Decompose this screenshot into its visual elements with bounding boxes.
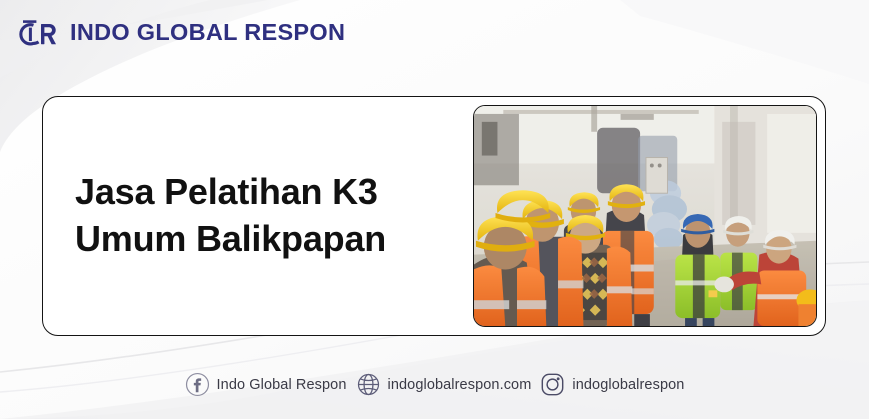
footer-label-website: indoglobalrespon.com [388,377,532,393]
title-line-1: Jasa Pelatihan K3 [75,169,463,216]
card-text-block: Jasa Pelatihan K3 Umum Balikpapan [43,97,473,335]
banner-canvas: INDO GLOBAL RESPON Jasa Pelatihan K3 Umu… [0,0,869,419]
facebook-icon [185,372,210,397]
footer-item-website[interactable]: indoglobalrespon.com [356,372,532,397]
main-card: Jasa Pelatihan K3 Umum Balikpapan [42,96,826,336]
title-line-2: Umum Balikpapan [75,216,463,263]
igr-monogram-icon [16,13,60,53]
brand-name: INDO GLOBAL RESPON [70,21,345,45]
footer-contact-bar: Indo Global Respon indoglobalrespon.com [0,372,869,397]
footer-label-instagram: indoglobalrespon [572,377,684,393]
card-photo-container [473,97,825,335]
globe-icon [356,372,381,397]
k3-safety-training-photo [473,105,817,327]
brand-header: INDO GLOBAL RESPON [16,13,345,53]
instagram-icon [540,372,565,397]
page-title: Jasa Pelatihan K3 Umum Balikpapan [75,169,463,263]
footer-label-facebook: Indo Global Respon [217,377,347,393]
footer-item-instagram[interactable]: indoglobalrespon [540,372,684,397]
footer-item-facebook[interactable]: Indo Global Respon [185,372,347,397]
